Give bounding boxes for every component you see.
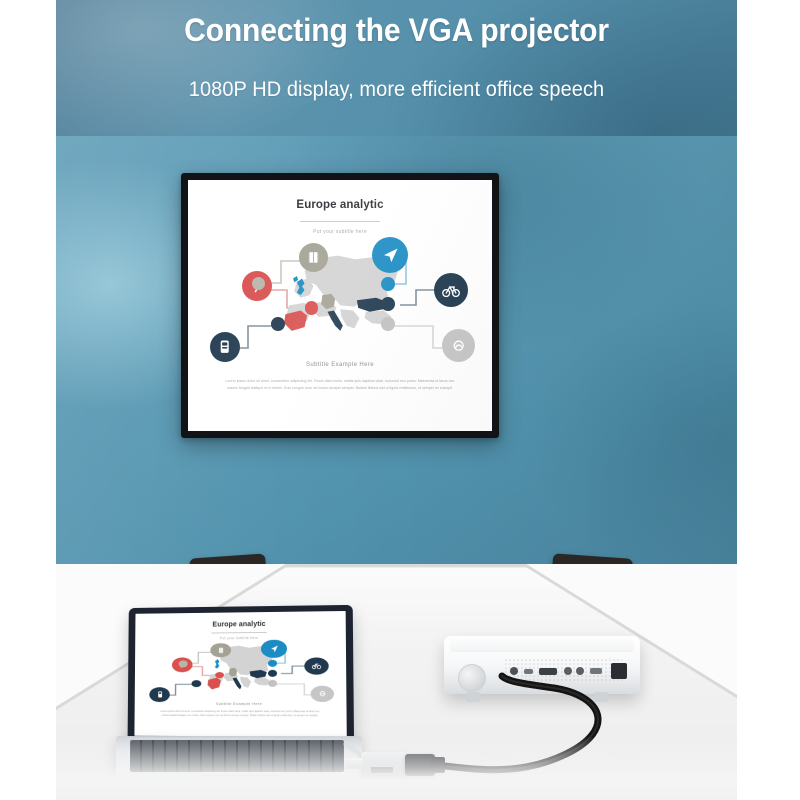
laptop-lid: Europe analytic Put your subtitle here [128, 605, 354, 743]
presentation-slide-tv: Europe analytic Put your subtitle here [188, 180, 492, 431]
projector-port-audio [510, 667, 518, 675]
laptop-marker-dot-bike [268, 669, 278, 676]
marker-train-front [210, 332, 240, 362]
navigation-arrow-icon [380, 245, 401, 266]
bicycle-icon [441, 280, 461, 300]
projector-foot-right [594, 692, 608, 702]
laptop-slide-subtitle: Put your subtitle here [135, 635, 346, 641]
presentation-slide-laptop: Europe analytic Put your subtitle here [134, 611, 346, 737]
projector-vent [504, 658, 622, 682]
laptop-marker-navigation-arrow [261, 640, 287, 658]
laptop-marker-dot-train [191, 680, 201, 687]
projector-port-rca-1 [564, 667, 572, 675]
projector-port-vga [539, 668, 557, 675]
laptop-marker-bicycle [305, 657, 330, 674]
marker-dot-walking [305, 301, 318, 314]
projector-power-socket [611, 663, 627, 679]
slide-title: Europe analytic [188, 199, 492, 211]
projector [444, 630, 640, 706]
projector-lens [458, 664, 486, 692]
projector-body [444, 636, 640, 694]
marker-dot-ring [381, 317, 395, 331]
projector-port-rca-2 [576, 667, 584, 675]
slide-subtitle: Put your subtitle here [188, 229, 492, 235]
bicycle-icon [310, 661, 324, 671]
product-banner-image: Connecting the VGA projector 1080P HD di… [0, 0, 800, 800]
projector-port-usb [524, 669, 533, 674]
projector-foot-left [466, 692, 480, 702]
tv-screen: Europe analytic Put your subtitle here [188, 180, 492, 431]
projector-port-hdmi [590, 668, 602, 674]
page-title: Connecting the VGA projector [76, 12, 716, 49]
laptop-marker-circle-swirl [311, 685, 335, 702]
page-subtitle: 1080P HD display, more efficient office … [73, 78, 720, 102]
slide-section-heading: Subtitle Example Here [188, 362, 492, 368]
marker-circle-swirl [442, 329, 475, 362]
laptop-marker-train-front [150, 687, 171, 702]
open-book-icon [215, 646, 227, 654]
navigation-arrow-icon [267, 644, 282, 655]
wall-mounted-tv: Europe analytic Put your subtitle here [181, 173, 499, 438]
marker-bicycle [434, 273, 469, 308]
train-front-icon [216, 338, 233, 355]
marker-open-book [299, 243, 328, 272]
laptop-slide-section-heading: Subtitle Example Here [135, 702, 347, 706]
scene-bottom-fade [56, 736, 737, 800]
marker-dot-train [271, 317, 285, 331]
marker-dot-bike [381, 297, 395, 311]
conference-room-scene: Europe analytic Put your subtitle here [56, 136, 737, 800]
laptop-slide-body-text: Lorem ipsum dolor sit amet, consectetur … [157, 710, 322, 719]
open-book-icon [305, 249, 322, 266]
header-banner: Connecting the VGA projector 1080P HD di… [56, 0, 737, 136]
laptop-marker-dot-ring [268, 680, 278, 687]
left-white-margin [0, 0, 56, 800]
right-white-margin [737, 0, 800, 800]
laptop-screen: Europe analytic Put your subtitle here [134, 611, 346, 737]
laptop-slide-title: Europe analytic [135, 620, 345, 629]
circle-swirl-icon [316, 689, 330, 699]
laptop-slide-divider [212, 632, 267, 634]
projector-top-panel [450, 636, 634, 652]
slide-body-text: Lorem ipsum dolor sit amet, consectetur … [221, 378, 458, 391]
slide-divider [300, 221, 379, 222]
circle-swirl-icon [449, 336, 468, 355]
train-front-icon [154, 690, 166, 699]
laptop-marker-dot-book [178, 660, 187, 666]
